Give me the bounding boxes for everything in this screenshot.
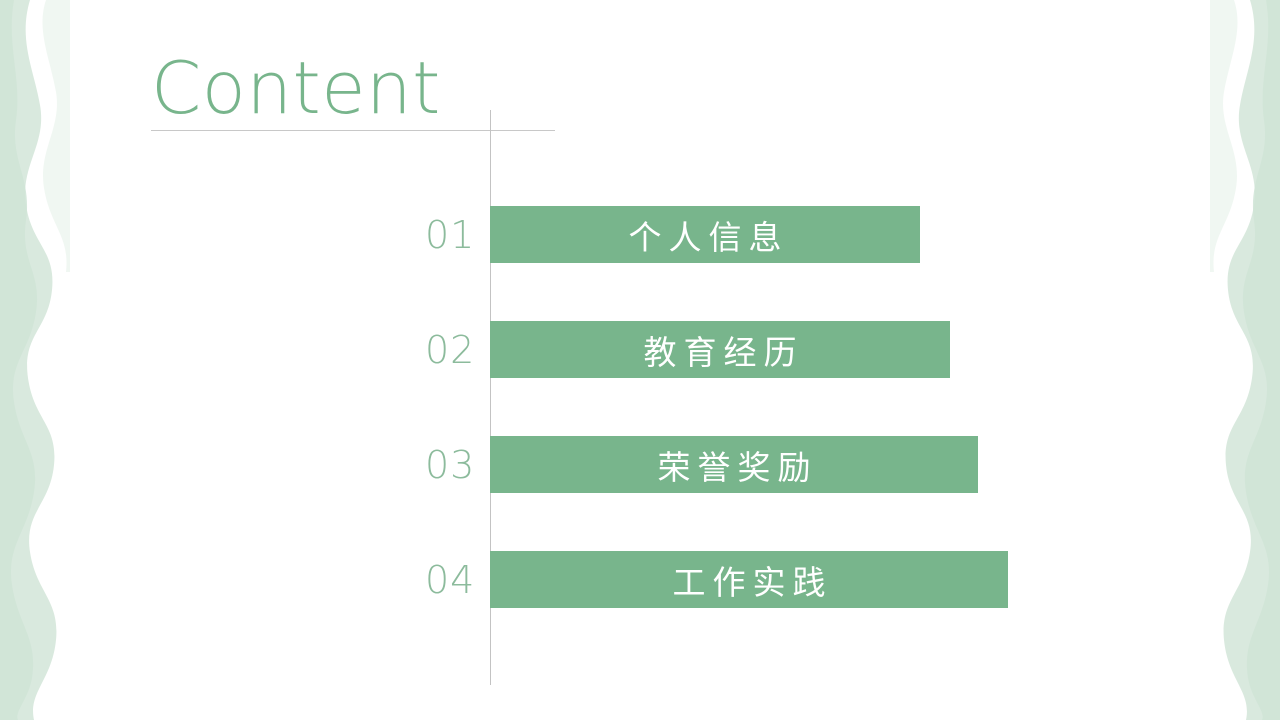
item-number: 02	[425, 328, 490, 372]
list-item[interactable]: 04 工作实践	[425, 551, 1008, 608]
item-bar[interactable]: 工作实践	[490, 551, 1008, 608]
item-bar[interactable]: 荣誉奖励	[490, 436, 978, 493]
item-bar[interactable]: 个人信息	[490, 206, 920, 263]
item-label: 个人信息	[622, 211, 789, 259]
presentation-slide: Content 01 个人信息 02 教育经历 03 荣誉奖励 04 工	[0, 0, 1280, 720]
item-number: 04	[425, 558, 490, 602]
list-item[interactable]: 02 教育经历	[425, 321, 950, 378]
item-number: 01	[425, 213, 490, 257]
list-item[interactable]: 03 荣誉奖励	[425, 436, 978, 493]
list-item[interactable]: 01 个人信息	[425, 206, 920, 263]
item-label: 荣誉奖励	[651, 441, 818, 489]
content-list: 01 个人信息 02 教育经历 03 荣誉奖励 04 工作实践	[0, 0, 1280, 720]
item-bar[interactable]: 教育经历	[490, 321, 950, 378]
item-label: 工作实践	[666, 556, 833, 604]
item-number: 03	[425, 443, 490, 487]
item-label: 教育经历	[637, 326, 804, 374]
